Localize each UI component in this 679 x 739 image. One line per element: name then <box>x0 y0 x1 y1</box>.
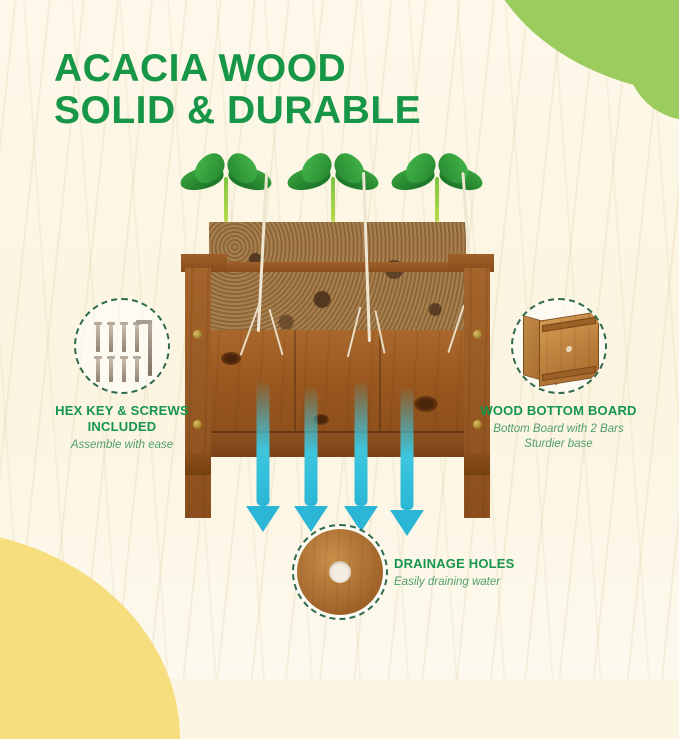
soil-cross-section <box>209 222 466 347</box>
drainage-hole-icon <box>329 561 351 583</box>
arrow-head-icon <box>246 506 280 532</box>
callout-subtitle: Bottom Board with 2 Bars Sturdier base <box>456 422 661 452</box>
planter-box <box>185 210 490 475</box>
plank-seam <box>379 330 381 443</box>
screw-pin-icon <box>109 356 113 382</box>
page-title: ACACIA WOOD SOLID & DURABLE <box>54 48 421 132</box>
arrow-shaft <box>355 382 368 506</box>
callout-subtitle-line-1: Bottom Board with 2 Bars <box>493 423 623 435</box>
screws-and-hex-key-icon <box>74 298 170 394</box>
feature-callout-hex-key: HEX KEY & SCREWS INCLUDED Assemble with … <box>22 298 222 453</box>
board-bar <box>542 366 596 382</box>
callout-title: DRAINAGE HOLES <box>394 556 544 572</box>
screw-pin-icon <box>109 322 113 352</box>
arrow-head-icon <box>390 510 424 536</box>
wood-knot <box>221 352 241 365</box>
top-rail <box>209 262 466 272</box>
drainage-holes-text-block: DRAINAGE HOLES Easily draining water <box>394 556 544 590</box>
bottom-rail <box>199 431 476 457</box>
headline-line-1: ACACIA WOOD <box>54 47 346 90</box>
feature-callout-wood-bottom-board: WOOD BOTTOM BOARD Bottom Board with 2 Ba… <box>456 298 661 452</box>
hex-key-icon <box>136 320 152 376</box>
callout-title-line-2: INCLUDED <box>88 419 157 434</box>
board-hole-icon <box>566 346 572 353</box>
callout-subtitle: Assemble with ease <box>22 438 222 453</box>
callout-subtitle: Easily draining water <box>394 575 544 590</box>
screw-pin-icon <box>122 322 126 352</box>
plank-seam <box>294 330 296 443</box>
screw-pin-icon <box>96 322 100 352</box>
callout-title-line-1: HEX KEY & SCREWS <box>55 403 189 418</box>
feature-callout-drainage-holes <box>290 524 390 620</box>
callout-title: WOOD BOTTOM BOARD <box>456 403 661 419</box>
screw-pin-icon <box>96 356 100 382</box>
planter-leg-right <box>464 453 490 475</box>
planter-illustration <box>185 155 490 505</box>
arrow-shaft <box>257 382 270 506</box>
callout-subtitle-line-2: Sturdier base <box>524 438 592 450</box>
screw-pin-icon <box>122 356 126 382</box>
headline-line-2: SOLID & DURABLE <box>54 90 421 132</box>
board-front-panel <box>539 311 599 387</box>
callout-title: HEX KEY & SCREWS INCLUDED <box>22 403 222 435</box>
wood-bottom-board-icon <box>511 298 607 394</box>
front-wood-panel <box>209 330 466 443</box>
drainage-disc-icon <box>292 524 388 620</box>
seedling-3 <box>390 155 484 217</box>
planter-leg-left <box>185 453 211 475</box>
wood-knot <box>414 396 438 412</box>
board-bar <box>542 317 596 333</box>
seedling-1 <box>179 155 273 217</box>
arrow-shaft <box>401 388 414 510</box>
arrow-shaft <box>305 388 318 506</box>
